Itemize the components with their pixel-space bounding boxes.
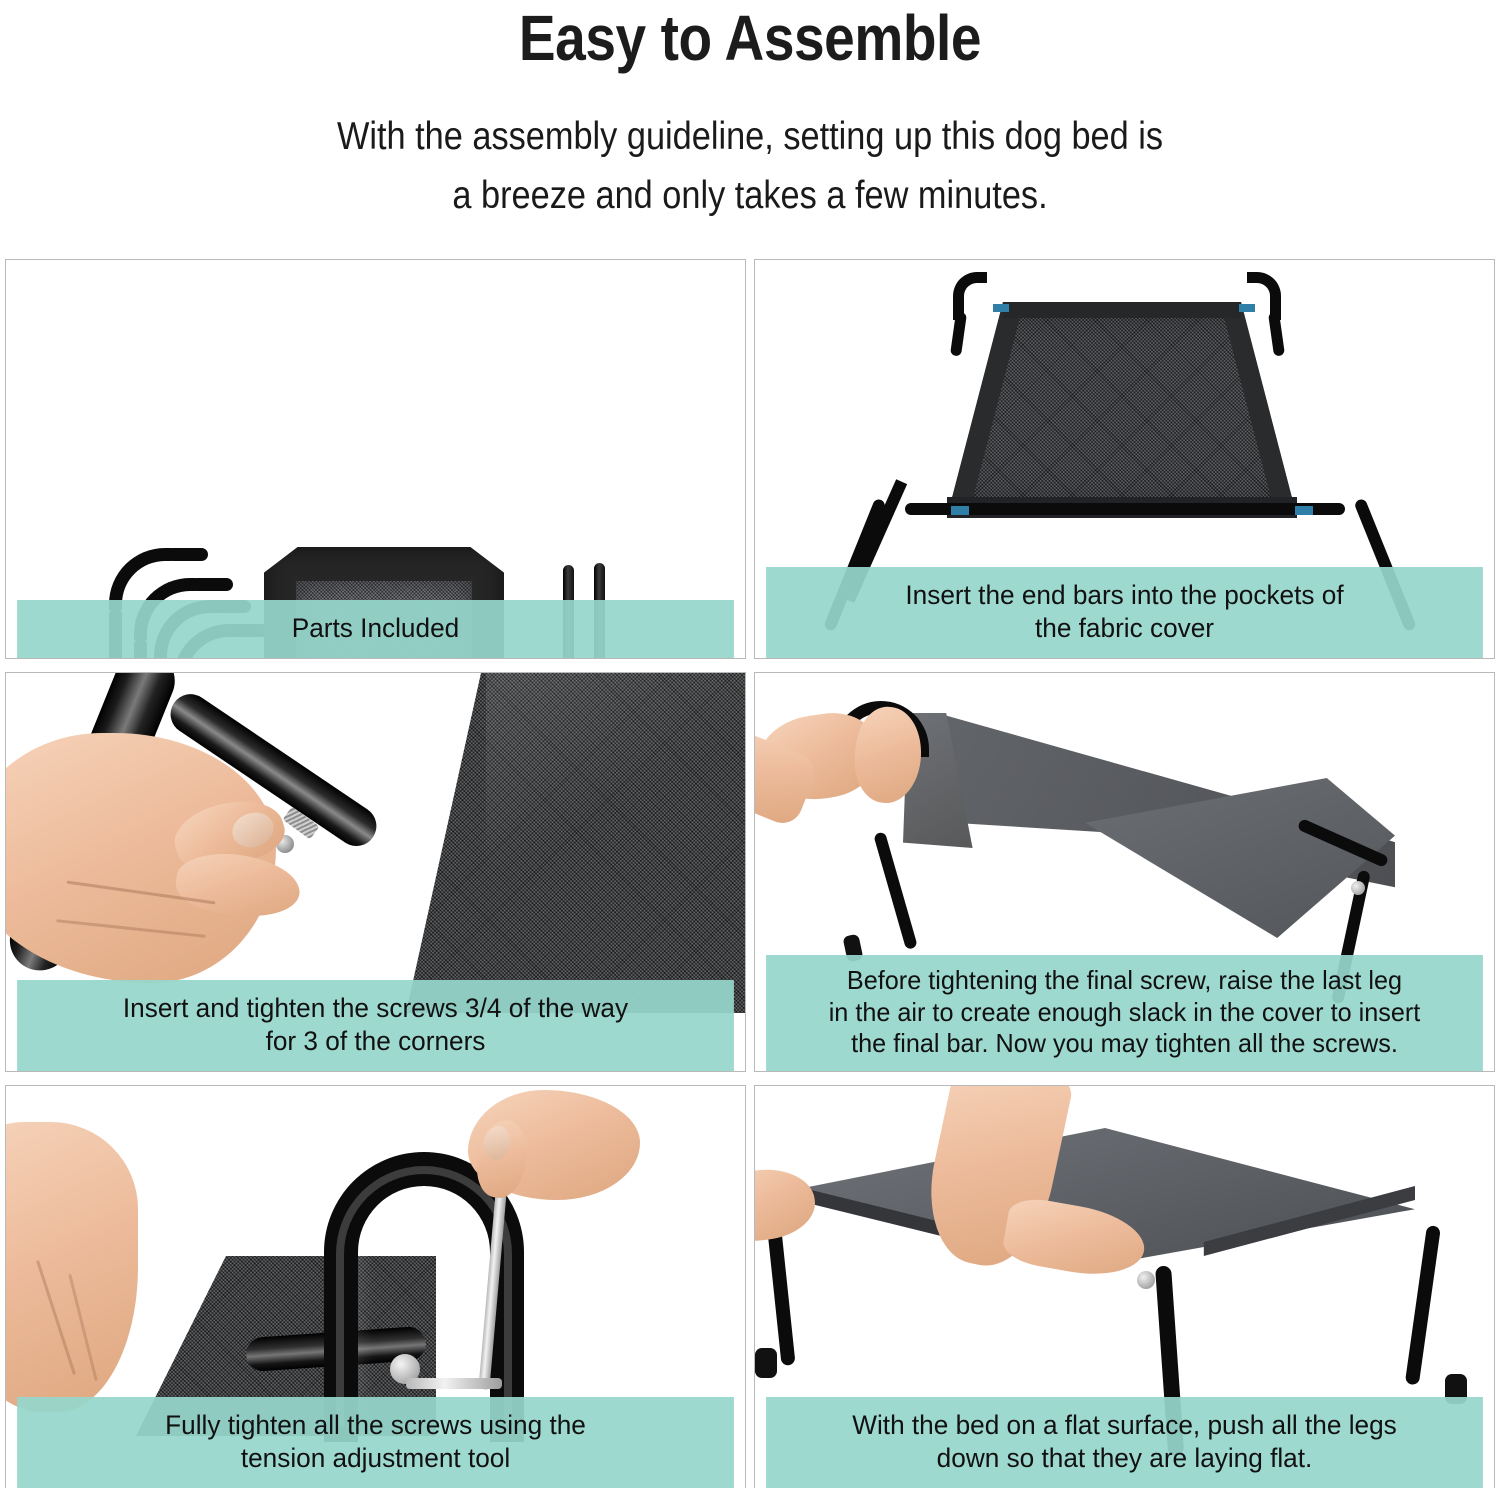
caption-line: Before tightening the final screw, raise… — [776, 965, 1473, 997]
corner-screw-right — [1351, 881, 1365, 895]
caption-line: down so that they are laying flat. — [780, 1442, 1470, 1475]
page-subtitle-line-2: a breeze and only takes a few minutes. — [90, 166, 1410, 225]
panel-caption: Insert and tighten the screws 3/4 of the… — [17, 980, 734, 1071]
hand-left-edge — [755, 1165, 818, 1246]
steps-grid: Parts Included — [5, 259, 1495, 1483]
corner-joint-screw — [1137, 1271, 1155, 1289]
page-subtitle-line-1: With the assembly guideline, setting up … — [90, 107, 1410, 166]
caption-line: for 3 of the corners — [31, 1025, 721, 1058]
panel-caption: With the bed on a flat surface, push all… — [766, 1397, 1483, 1488]
assembly-instructions-page: Easy to Assemble With the assembly guide… — [0, 0, 1500, 1488]
panel-caption: Before tightening the final screw, raise… — [766, 955, 1483, 1071]
panel-parts-included: Parts Included — [5, 259, 746, 659]
page-subtitle: With the assembly guideline, setting up … — [90, 107, 1410, 226]
page-title: Easy to Assemble — [105, 4, 1395, 73]
caption-line: Insert and tighten the screws 3/4 of the… — [31, 992, 721, 1025]
standing-leg-left — [873, 831, 918, 950]
caption-line: the fabric cover — [780, 612, 1470, 645]
caption-line: Insert the end bars into the pockets of — [780, 579, 1470, 612]
caption-line: Parts Included — [31, 612, 721, 645]
caption-line: With the bed on a flat surface, push all… — [780, 1409, 1470, 1442]
bed-leg-front-left-foot — [755, 1348, 777, 1378]
panel-push-legs-flat: With the bed on a flat surface, push all… — [754, 1085, 1495, 1488]
panel-caption: Insert the end bars into the pockets of … — [766, 567, 1483, 658]
hook-sticker-right — [1239, 304, 1255, 312]
panel-caption: Parts Included — [17, 600, 734, 658]
leg-sticker-right — [1295, 506, 1313, 515]
parts-included-photo — [6, 260, 745, 658]
hook-sticker-left — [993, 304, 1009, 312]
panel-insert-tighten-screws: Insert and tighten the screws 3/4 of the… — [5, 672, 746, 1072]
fabric-fold-seam — [486, 673, 745, 873]
hex-key-short-arm — [406, 1378, 502, 1389]
caption-line: tension adjustment tool — [31, 1442, 721, 1475]
page-header: Easy to Assemble With the assembly guide… — [0, 0, 1500, 226]
cover-edge-top — [1003, 302, 1241, 318]
caption-line: Fully tighten all the screws using the — [31, 1409, 721, 1442]
caption-line: in the air to create enough slack in the… — [776, 997, 1473, 1029]
panel-fully-tighten-screws: Fully tighten all the screws using the t… — [5, 1085, 746, 1488]
panel-caption: Fully tighten all the screws using the t… — [17, 1397, 734, 1488]
panel-raise-last-leg: Before tightening the final screw, raise… — [754, 672, 1495, 1072]
bed-leg-front-left — [767, 1225, 796, 1366]
caption-line: the final bar. Now you may tighten all t… — [776, 1028, 1473, 1060]
leg-sticker-left — [951, 506, 969, 515]
end-bar-hook-right-stem — [1268, 311, 1285, 356]
bed-leg-right — [1405, 1225, 1441, 1385]
panel-insert-end-bars: Insert the end bars into the pockets of … — [754, 259, 1495, 659]
bottom-cross-bar — [905, 503, 1345, 515]
